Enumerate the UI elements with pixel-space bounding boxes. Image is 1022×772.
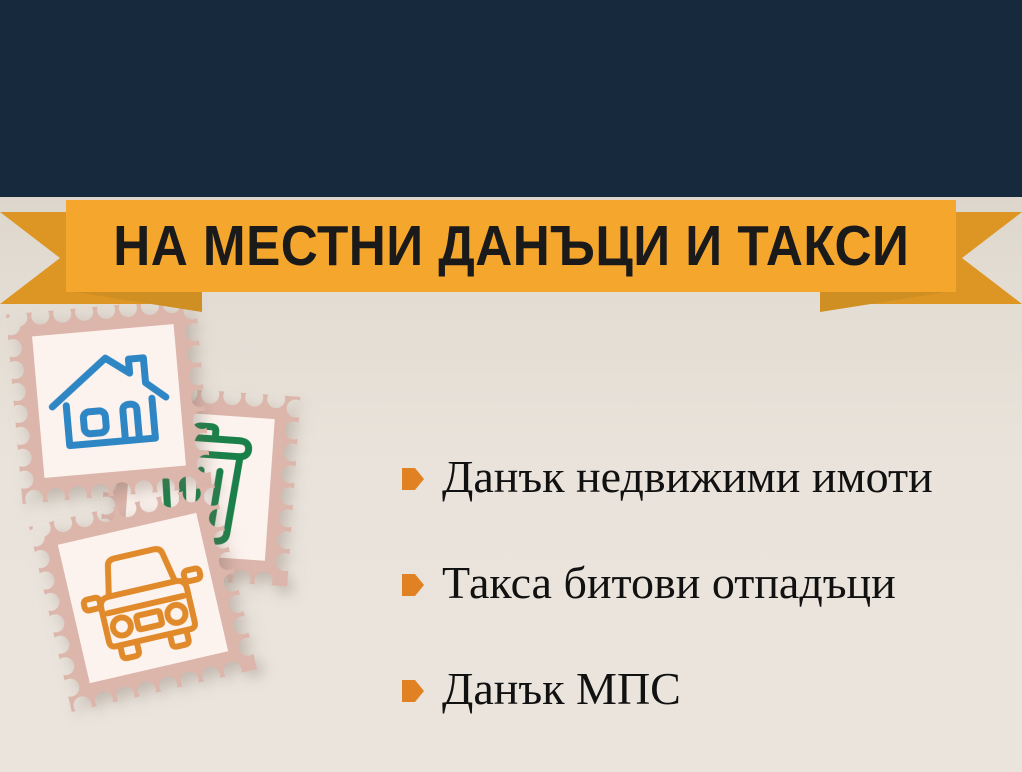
stamp-card-property xyxy=(6,298,212,504)
list-item-label: Данък недвижими имоти xyxy=(442,452,933,502)
tax-type-list: Данък недвижими имоти Такса битови отпад… xyxy=(402,424,1012,742)
poster-canvas: община ЕЛИН ПЕЛИН xyxy=(0,0,1022,772)
list-item[interactable]: Данък недвижими имоти xyxy=(402,424,1012,530)
list-item[interactable]: Данък МПС xyxy=(402,636,1012,742)
arrow-bullet-icon xyxy=(402,466,424,492)
header-band xyxy=(0,0,1022,197)
list-item-label: Данък МПС xyxy=(442,664,681,714)
stamp-collage xyxy=(0,300,420,770)
arrow-bullet-icon xyxy=(402,678,424,704)
arrow-bullet-icon xyxy=(402,572,424,598)
list-item-label: Такса битови отпадъци xyxy=(442,558,896,608)
ribbon-main-band: НА МЕСТНИ ДАНЪЦИ И ТАКСИ xyxy=(66,200,956,292)
ribbon-subtitle: НА МЕСТНИ ДАНЪЦИ И ТАКСИ xyxy=(113,216,909,276)
ribbon-banner: НА МЕСТНИ ДАНЪЦИ И ТАКСИ xyxy=(0,196,1022,316)
list-item[interactable]: Такса битови отпадъци xyxy=(402,530,1012,636)
